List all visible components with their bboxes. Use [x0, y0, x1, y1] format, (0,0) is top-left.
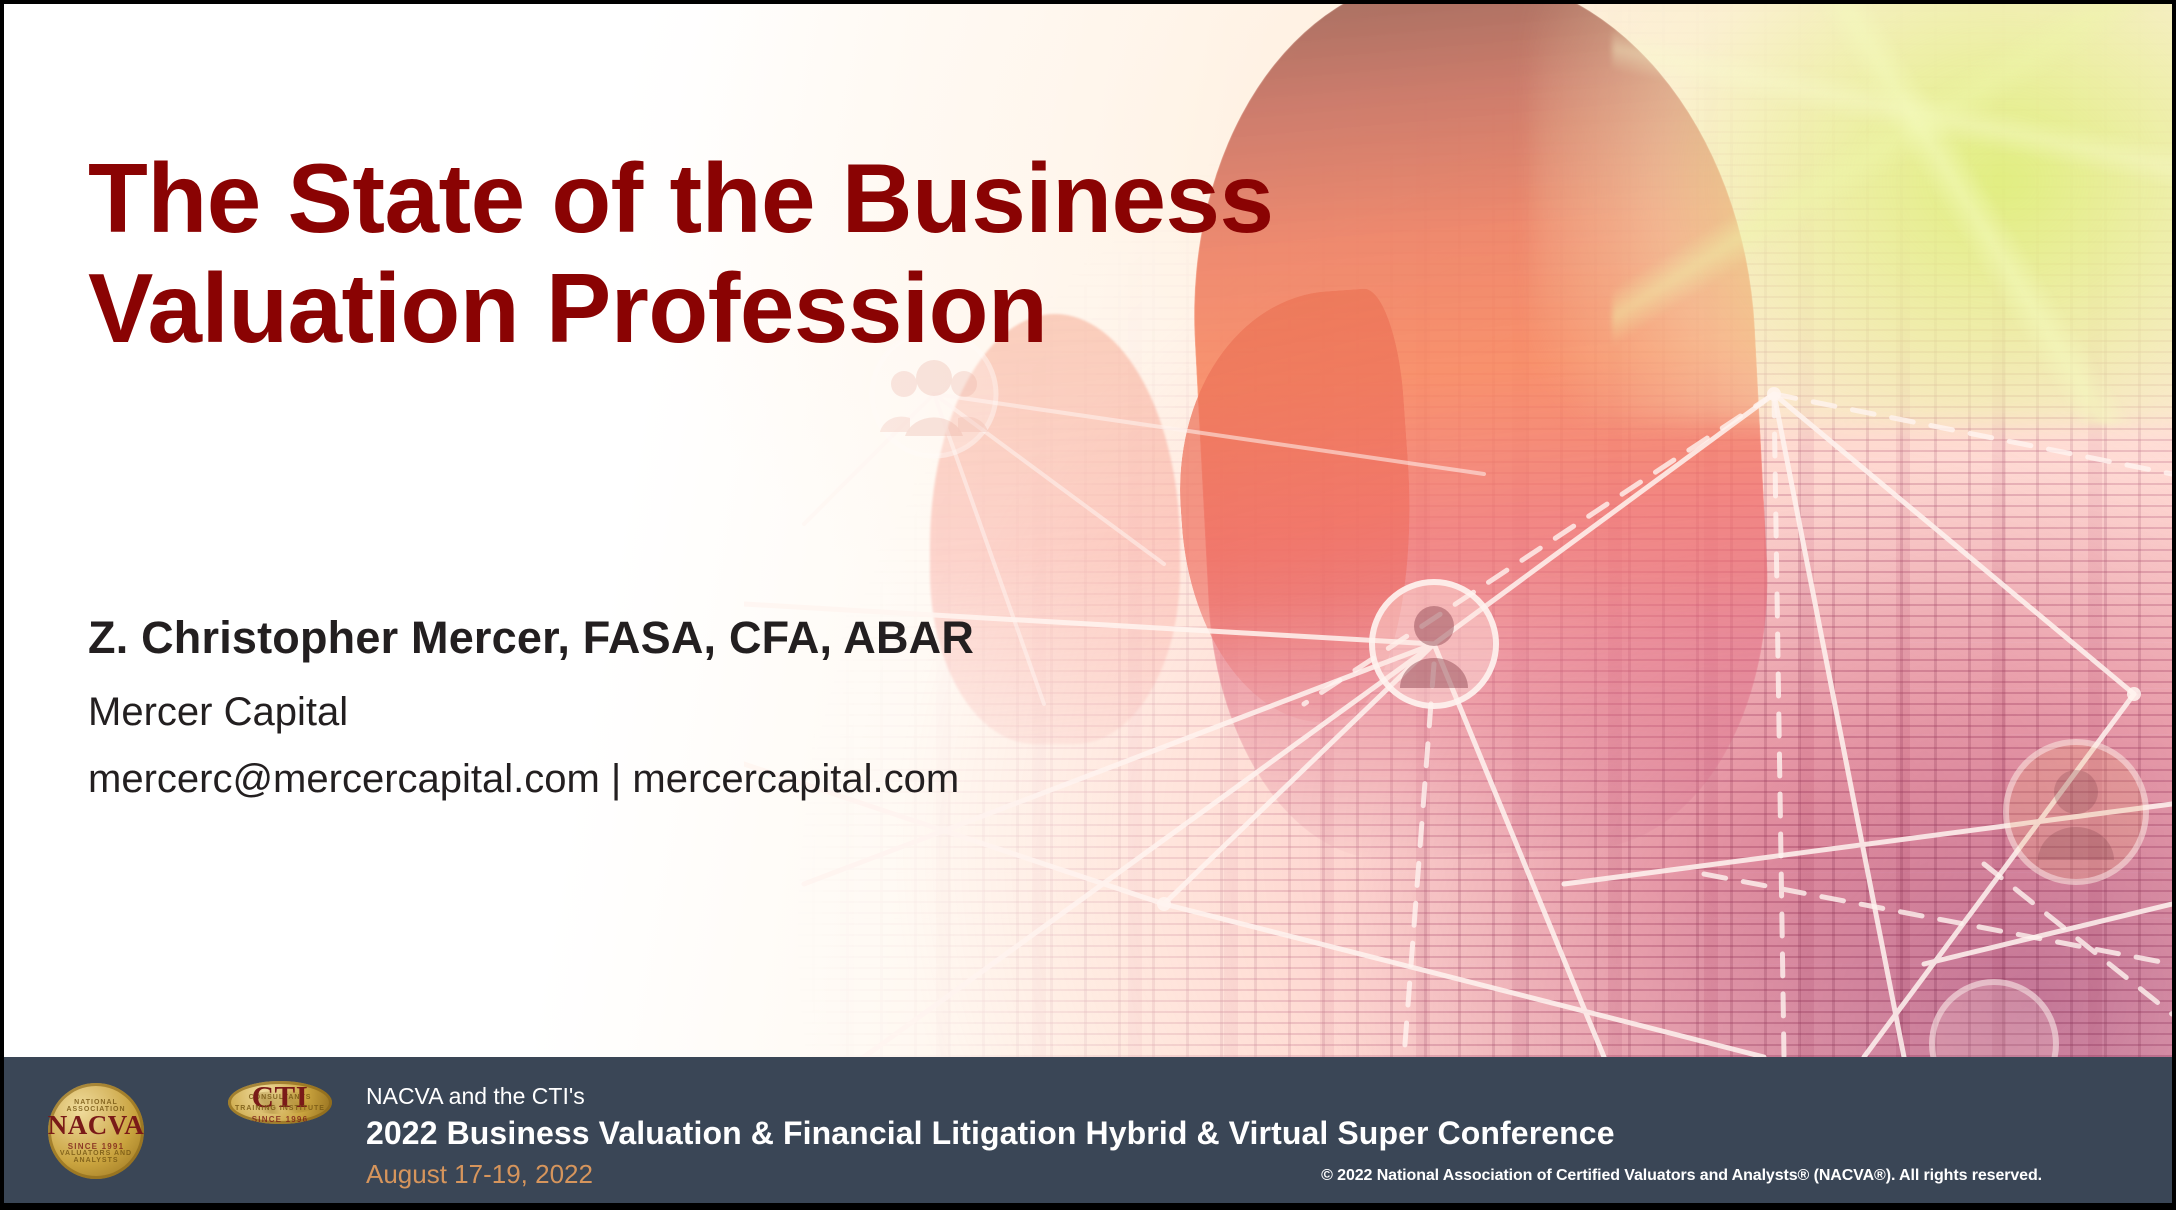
cti-seal-disc: CONSULTANTS CTI SINCE 1996 TRAINING INST… — [228, 1081, 332, 1124]
cti-seal-ring-bottom: TRAINING INSTITUTE — [228, 1105, 332, 1112]
slide-border-top — [0, 0, 2176, 4]
slide-border-left — [0, 0, 4, 1210]
speaker-organization: Mercer Capital — [88, 690, 1288, 735]
nacva-seal-disc: NATIONAL ASSOCIATION NACVA SINCE 1991 VA… — [48, 1083, 144, 1179]
speaker-contact: mercerc@mercercapital.com | mercercapita… — [88, 757, 1288, 802]
cti-seal-established: SINCE 1996 — [252, 1115, 308, 1124]
conference-footer: NATIONAL ASSOCIATION NACVA SINCE 1991 VA… — [4, 1057, 2172, 1203]
slide-border-bottom — [0, 1203, 2176, 1210]
footer-conference-title: 2022 Business Valuation & Financial Liti… — [366, 1115, 1615, 1152]
network-node-person — [2006, 742, 2146, 882]
presentation-slide: The State of the Business Valuation Prof… — [0, 0, 2176, 1210]
title-line-1: The State of the Business — [88, 144, 1648, 254]
nacva-seal-ring-bottom: VALUATORS AND ANALYSTS — [48, 1150, 144, 1164]
speaker-block: Z. Christopher Mercer, FASA, CFA, ABAR M… — [88, 612, 1288, 802]
nacva-seal-wordmark: NACVA — [48, 1112, 145, 1139]
copyright-notice: © 2022 National Association of Certified… — [1321, 1167, 2042, 1185]
network-vertex — [1157, 387, 2141, 911]
cti-seal-logo: CONSULTANTS CTI SINCE 1996 TRAINING INST… — [226, 1079, 330, 1183]
slide-border-right — [2172, 0, 2176, 1210]
nacva-seal-ring-top: NATIONAL ASSOCIATION — [48, 1099, 144, 1113]
footer-kicker: NACVA and the CTI's — [366, 1083, 1615, 1110]
nacva-seal-logo: NATIONAL ASSOCIATION NACVA SINCE 1991 VA… — [40, 1075, 152, 1187]
network-node-person — [1932, 982, 2056, 1057]
title-line-2: Valuation Profession — [88, 254, 1648, 364]
slide-artwork-canvas: The State of the Business Valuation Prof… — [4, 4, 2172, 1057]
page-title: The State of the Business Valuation Prof… — [88, 144, 1648, 364]
speaker-name: Z. Christopher Mercer, FASA, CFA, ABAR — [88, 612, 1288, 664]
network-node-person — [1372, 582, 1496, 706]
